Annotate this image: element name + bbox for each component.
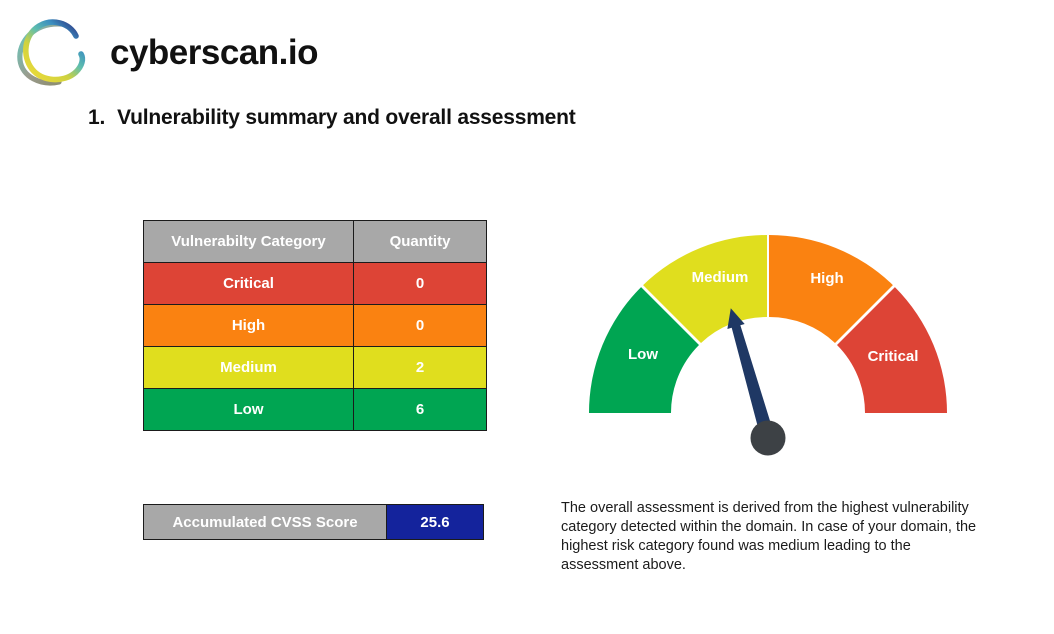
page-title: 1. Vulnerability summary and overall ass… xyxy=(88,106,576,130)
cell-category: Critical xyxy=(144,263,354,305)
table-header-row: Vulnerabilty Category Quantity xyxy=(144,221,487,263)
column-header-quantity: Quantity xyxy=(354,221,487,263)
vulnerability-summary-table: Vulnerabilty Category Quantity Critical … xyxy=(143,220,487,431)
gauge-label-low: Low xyxy=(628,346,658,363)
cell-category: Medium xyxy=(144,347,354,389)
cyberscan-c-logo-icon xyxy=(14,14,100,90)
gauge-segments xyxy=(589,235,947,413)
brand-header: cyberscan.io xyxy=(14,14,318,90)
brand-name: cyberscan.io xyxy=(110,35,318,70)
gauge-needle xyxy=(722,306,777,441)
cell-quantity: 0 xyxy=(354,305,487,347)
table-row: Low 6 xyxy=(144,389,487,431)
cell-quantity: 2 xyxy=(354,347,487,389)
cell-category: Low xyxy=(144,389,354,431)
section-number: 1. xyxy=(88,106,105,130)
cell-category: High xyxy=(144,305,354,347)
overall-assessment-gauge: Low Medium High Critical xyxy=(575,198,965,463)
cvss-score-value: 25.6 xyxy=(387,505,483,539)
gauge-label-medium: Medium xyxy=(692,269,749,286)
table-row: High 0 xyxy=(144,305,487,347)
accumulated-cvss-score: Accumulated CVSS Score 25.6 xyxy=(143,504,484,540)
section-title: Vulnerability summary and overall assess… xyxy=(117,106,575,130)
cell-quantity: 6 xyxy=(354,389,487,431)
gauge-label-critical: Critical xyxy=(868,348,919,365)
cvss-score-label: Accumulated CVSS Score xyxy=(144,505,387,539)
gauge-needle-pivot xyxy=(751,421,786,456)
cell-quantity: 0 xyxy=(354,263,487,305)
column-header-category: Vulnerabilty Category xyxy=(144,221,354,263)
table-row: Critical 0 xyxy=(144,263,487,305)
table-row: Medium 2 xyxy=(144,347,487,389)
assessment-description: The overall assessment is derived from t… xyxy=(561,499,979,576)
gauge-label-high: High xyxy=(810,270,843,287)
